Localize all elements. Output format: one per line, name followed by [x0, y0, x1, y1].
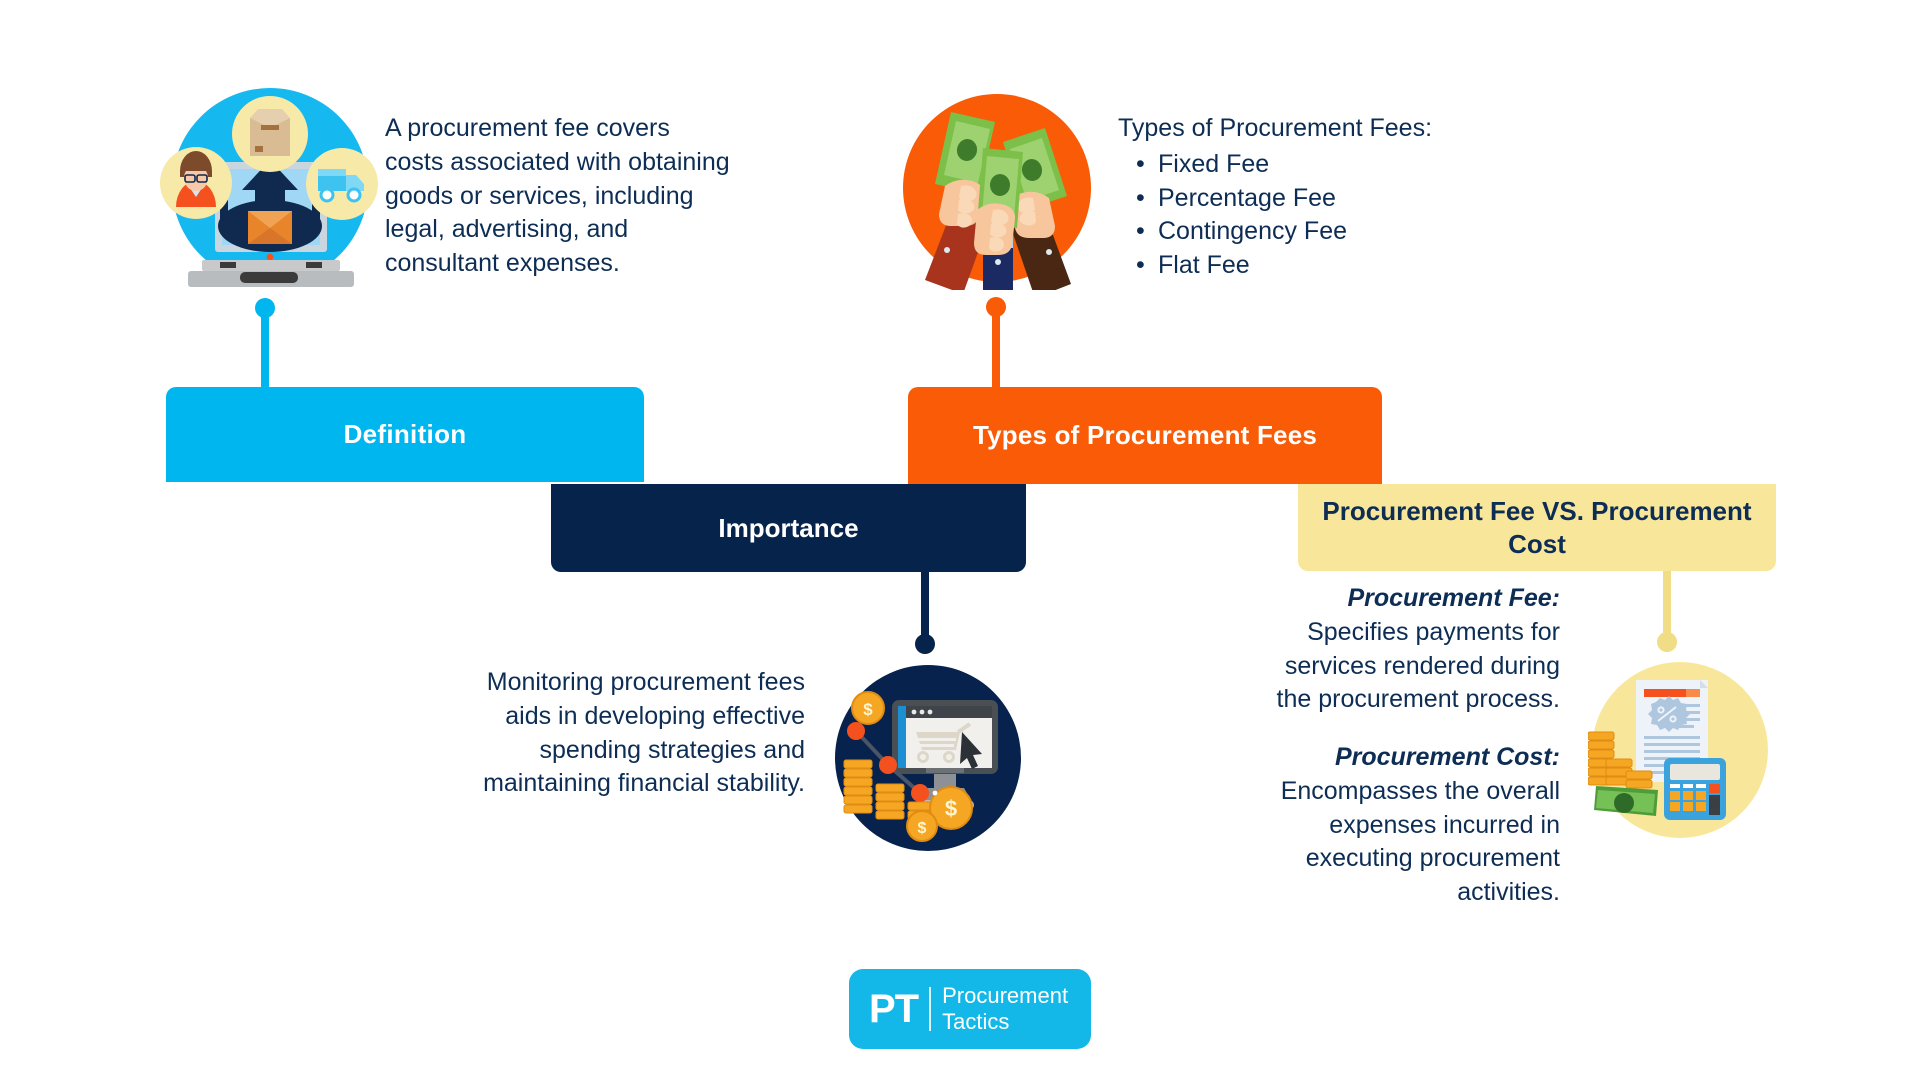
paragraph-gap: [1255, 717, 1560, 741]
hands-holding-money-icon: [899, 90, 1095, 290]
importance-body-text: Monitoring procurement fees aids in deve…: [470, 666, 805, 801]
comparison-connector-line: [1663, 570, 1671, 640]
definition-body-text: A procurement fee covers costs associate…: [385, 112, 735, 281]
list-item: Contingency Fee: [1158, 215, 1518, 249]
procurement-laptop-icon: [158, 74, 378, 294]
procurement-fee-heading: Procurement Fee:: [1255, 582, 1560, 616]
procurement-fee-text: Specifies payments for services rendered…: [1277, 618, 1560, 714]
definition-connector-line: [261, 307, 269, 391]
comparison-connector-dot: [1657, 632, 1677, 652]
banner-importance-label: Importance: [718, 513, 858, 544]
banner-definition-label: Definition: [344, 419, 467, 450]
svg-text:$: $: [918, 820, 927, 837]
procurement-cost-text: Encompasses the overall expenses incurre…: [1281, 777, 1560, 906]
logo-initials: PT: [869, 987, 918, 1032]
importance-connector-dot: [915, 634, 935, 654]
list-item: Flat Fee: [1158, 249, 1518, 283]
list-item: Percentage Fee: [1158, 182, 1518, 216]
types-fee-list: Fixed Fee Percentage Fee Contingency Fee…: [1118, 148, 1518, 283]
logo-line-1: Procurement: [942, 983, 1068, 1008]
banner-types-of-procurement-fees[interactable]: Types of Procurement Fees: [908, 387, 1382, 484]
banner-vs-label: Procurement Fee VS. Procurement Cost: [1298, 495, 1776, 560]
procurement-cost-heading: Procurement Cost:: [1255, 741, 1560, 775]
svg-text:$: $: [863, 700, 873, 719]
banner-definition[interactable]: Definition: [166, 387, 644, 482]
svg-text:$: $: [945, 796, 957, 821]
logo-line-2: Tactics: [942, 1009, 1009, 1034]
types-connector-line: [992, 306, 1000, 391]
invoice-calculator-money-icon: [1588, 658, 1772, 842]
types-list-title: Types of Procurement Fees:: [1118, 112, 1518, 146]
logo-divider: [929, 987, 931, 1031]
types-list-block: Types of Procurement Fees: Fixed Fee Per…: [1118, 112, 1518, 283]
banner-types-label: Types of Procurement Fees: [973, 420, 1317, 451]
banner-procurement-fee-vs-cost[interactable]: Procurement Fee VS. Procurement Cost: [1298, 484, 1776, 571]
list-item: Fixed Fee: [1158, 148, 1518, 182]
procurement-tactics-logo[interactable]: PT Procurement Tactics: [849, 969, 1091, 1049]
logo-wordmark: Procurement Tactics: [942, 983, 1068, 1034]
banner-importance[interactable]: Importance: [551, 484, 1026, 572]
comparison-body-text: Procurement Fee: Specifies payments for …: [1255, 582, 1560, 910]
ecommerce-monitor-coins-icon: $ $ $: [830, 660, 1026, 856]
types-connector-dot: [986, 297, 1006, 317]
definition-connector-dot: [255, 298, 275, 318]
infographic-canvas: A procurement fee covers costs associate…: [0, 0, 1920, 1080]
